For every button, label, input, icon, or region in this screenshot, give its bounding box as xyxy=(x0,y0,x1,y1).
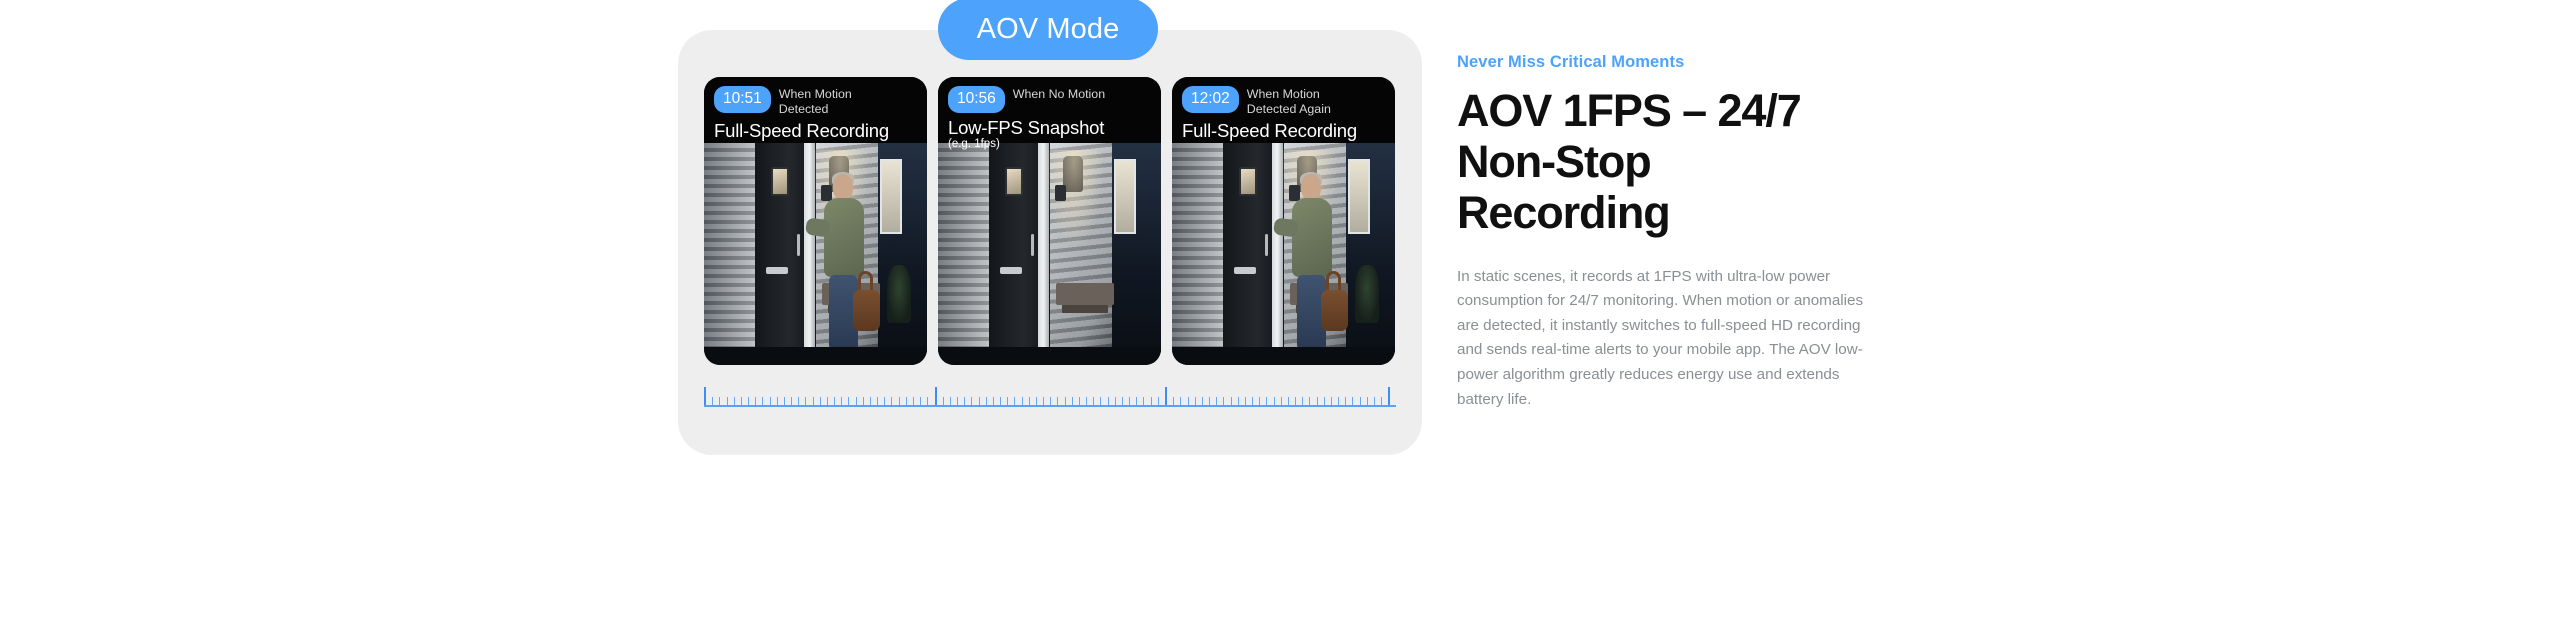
clip-card-header: 10:51 When Motion Detected Full-Speed Re… xyxy=(704,77,927,143)
aov-mode-badge: AOV Mode xyxy=(938,0,1158,60)
clip-card-header: 12:02 When Motion Detected Again Full-Sp… xyxy=(1172,77,1395,143)
door-jamb xyxy=(804,143,815,365)
person-head xyxy=(1301,174,1321,200)
clip-title: Low-FPS Snapshot xyxy=(948,118,1151,137)
body-description: In static scenes, it records at 1FPS wit… xyxy=(1457,265,1889,413)
aov-mode-badge-label: AOV Mode xyxy=(977,13,1120,46)
duffel-bag xyxy=(1321,290,1348,331)
side-window xyxy=(1114,159,1136,234)
door-handle xyxy=(1031,234,1034,256)
clip-title: Full-Speed Recording xyxy=(714,121,917,140)
timeline-major-tick xyxy=(1388,387,1396,407)
mail-slot xyxy=(766,267,788,274)
clip-card-meta: 10:56 When No Motion xyxy=(948,86,1151,113)
clip-time-badge: 10:56 xyxy=(948,86,1005,113)
clip-card-list: 10:51 When Motion Detected Full-Speed Re… xyxy=(704,77,1396,365)
porch-bench xyxy=(1056,283,1114,305)
clip-card[interactable]: 12:02 When Motion Detected Again Full-Sp… xyxy=(1172,77,1395,365)
ground-surface xyxy=(704,347,927,365)
side-window xyxy=(880,159,902,234)
ground-surface xyxy=(938,347,1161,365)
timeline-baseline xyxy=(704,405,1396,407)
clip-time-badge: 10:51 xyxy=(714,86,771,113)
person-figure xyxy=(816,174,883,360)
recording-timeline-ruler[interactable] xyxy=(704,385,1396,407)
doorway-scene-image xyxy=(938,143,1161,365)
person-head xyxy=(833,174,853,200)
clip-title: Full-Speed Recording xyxy=(1182,121,1385,140)
potted-plant xyxy=(1355,265,1380,323)
clip-trigger-label: When Motion Detected xyxy=(779,86,899,116)
mail-slot xyxy=(1234,267,1256,274)
door-window xyxy=(1239,167,1257,196)
clip-card-meta: 10:51 When Motion Detected xyxy=(714,86,917,116)
front-door xyxy=(989,143,1038,365)
clip-card[interactable]: 10:56 When No Motion Low-FPS Snapshot (e… xyxy=(938,77,1161,365)
clip-subtitle: (e.g. 1fps) xyxy=(948,138,1151,151)
left-wall-siding xyxy=(938,143,989,365)
clip-card[interactable]: 10:51 When Motion Detected Full-Speed Re… xyxy=(704,77,927,365)
wall-plate xyxy=(1055,185,1066,201)
feature-copy-column: Never Miss Critical Moments AOV 1FPS – 2… xyxy=(1457,53,1897,412)
doorway-scene-image xyxy=(704,143,927,365)
aov-feature-section: AOV Mode 10:51 When Motion Detected Full… xyxy=(0,0,2560,635)
door-window xyxy=(1005,167,1023,196)
door-window xyxy=(771,167,789,196)
left-wall-siding xyxy=(1172,143,1223,365)
page-title: AOV 1FPS – 24/7 Non-Stop Recording xyxy=(1457,86,1857,239)
door-handle xyxy=(797,234,800,256)
clip-card-header: 10:56 When No Motion Low-FPS Snapshot (e… xyxy=(938,77,1161,143)
potted-plant xyxy=(887,265,912,323)
timeline-major-tick xyxy=(935,387,943,407)
door-jamb xyxy=(1038,143,1049,365)
front-door xyxy=(1223,143,1272,365)
timeline-major-tick xyxy=(704,387,712,407)
timeline-major-tick xyxy=(1165,387,1173,407)
clip-time-badge: 12:02 xyxy=(1182,86,1239,113)
side-window xyxy=(1348,159,1370,234)
left-wall-siding xyxy=(704,143,755,365)
front-door xyxy=(755,143,804,365)
clip-trigger-label: When Motion Detected Again xyxy=(1247,86,1367,116)
doorway-scene-image xyxy=(1172,143,1395,365)
clip-trigger-label: When No Motion xyxy=(1013,86,1105,102)
door-handle xyxy=(1265,234,1268,256)
eyebrow-text: Never Miss Critical Moments xyxy=(1457,53,1897,72)
door-jamb xyxy=(1272,143,1283,365)
mail-slot xyxy=(1000,267,1022,274)
person-figure xyxy=(1284,174,1351,360)
person-torso xyxy=(1292,198,1332,276)
ground-surface xyxy=(1172,347,1395,365)
person-torso xyxy=(824,198,864,276)
clip-card-meta: 12:02 When Motion Detected Again xyxy=(1182,86,1385,116)
duffel-bag xyxy=(853,290,880,331)
